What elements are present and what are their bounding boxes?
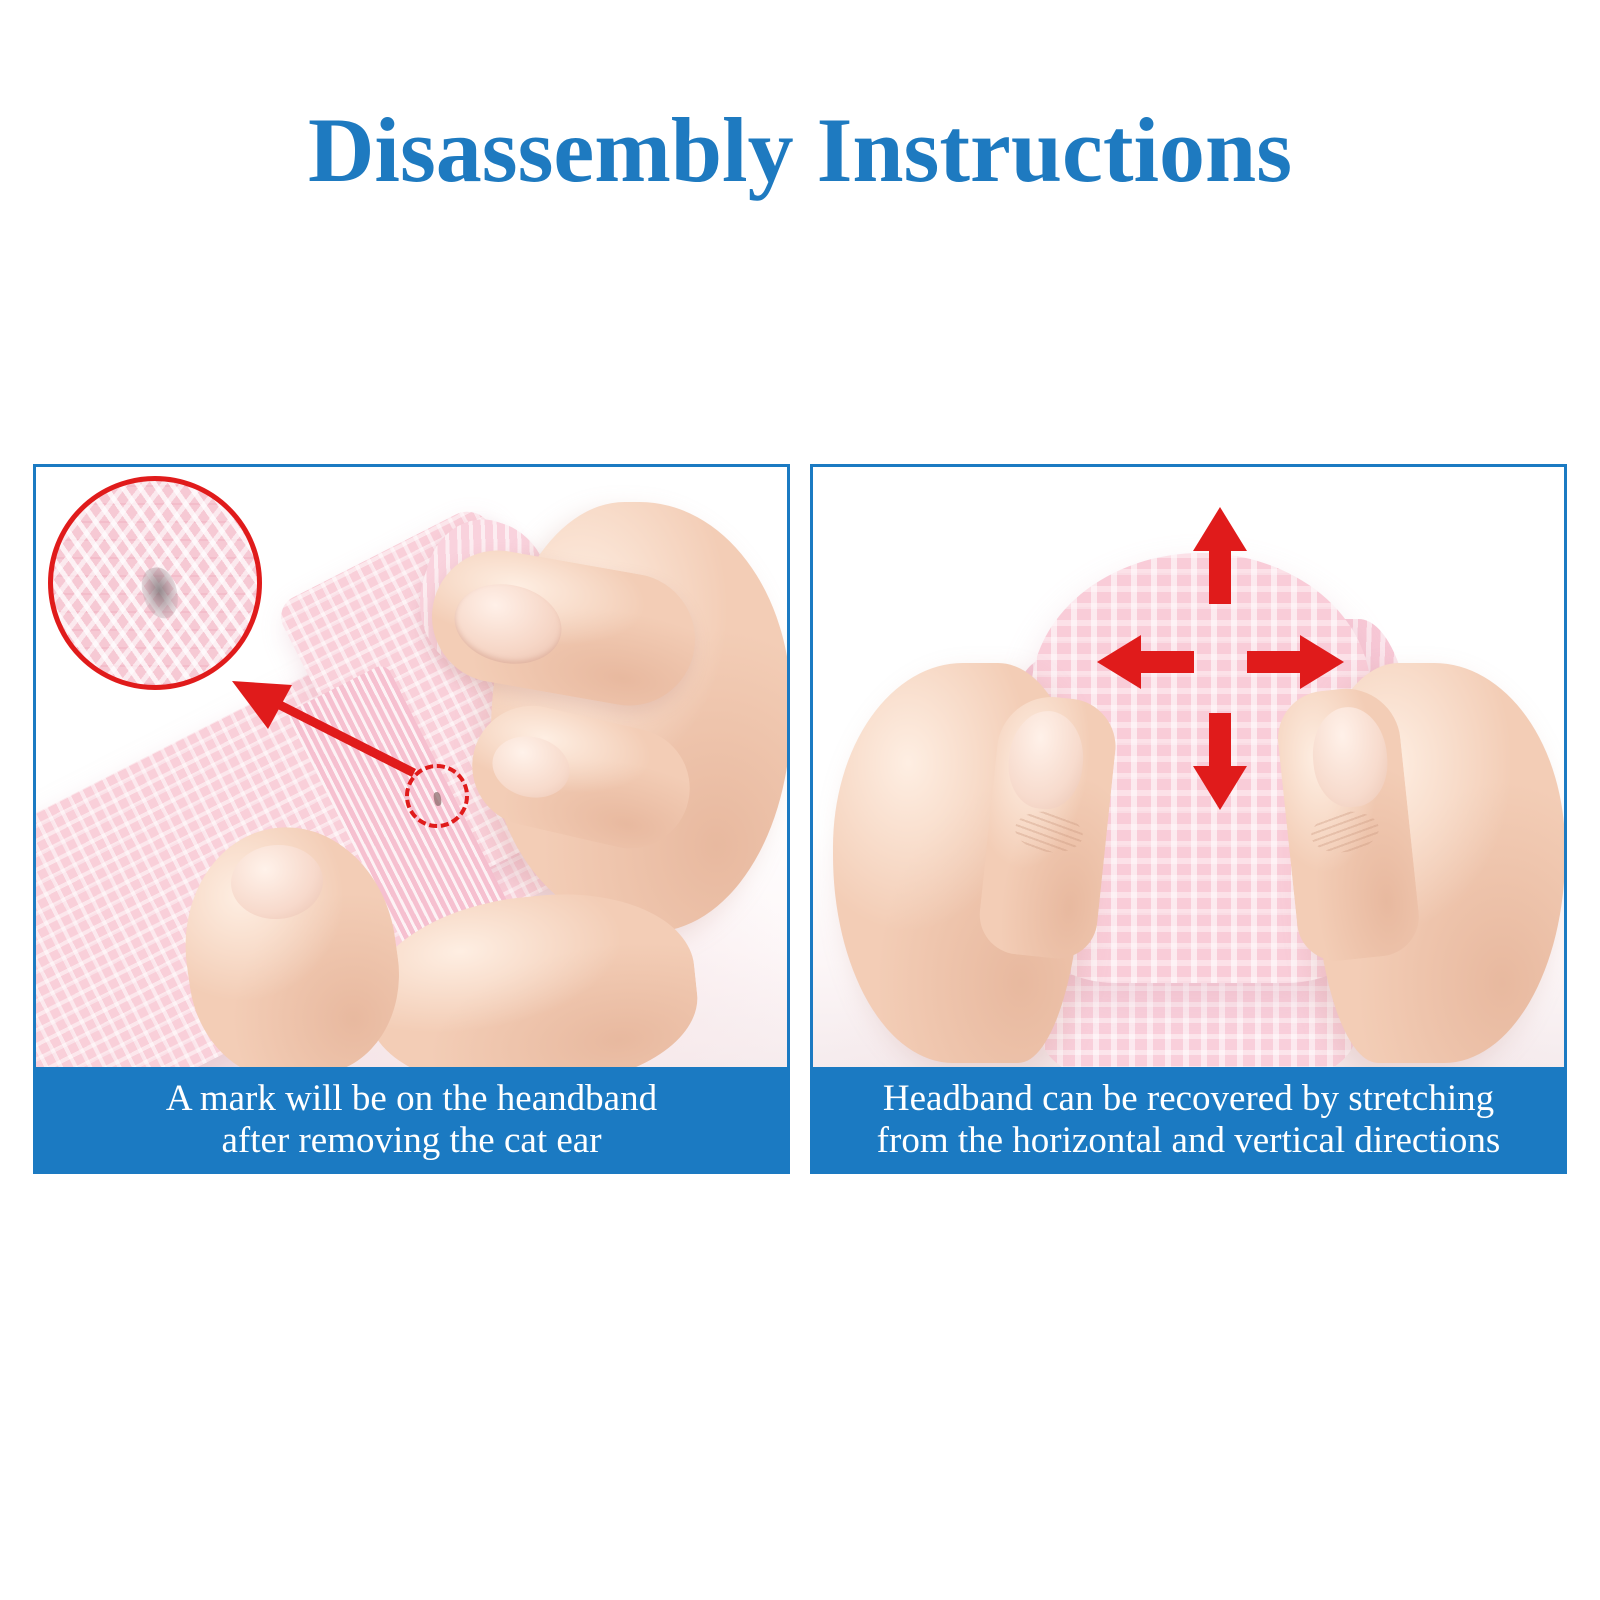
panel-left: A mark will be on the heandband after re… [33,464,790,1174]
dashed-target-circle [405,764,469,828]
panel-left-caption: A mark will be on the heandband after re… [35,1067,788,1172]
magnified-detail-circle [48,476,262,690]
instruction-panels: A mark will be on the heandband after re… [33,464,1567,1174]
page-title: Disassembly Instructions [0,104,1600,196]
caption-line-1: A mark will be on the heandband [166,1078,657,1119]
caption-line-1: Headband can be recovered by stretching [883,1078,1494,1119]
caption-line-2: from the horizontal and vertical directi… [877,1120,1501,1161]
panel-right: Headband can be recovered by stretching … [810,464,1567,1174]
mark-detail [138,564,182,622]
mark-on-headband [433,791,442,806]
caption-line-2: after removing the cat ear [221,1120,601,1161]
panel-right-photo [813,467,1564,1070]
panel-left-photo [36,467,787,1070]
panel-right-caption: Headband can be recovered by stretching … [812,1067,1565,1172]
